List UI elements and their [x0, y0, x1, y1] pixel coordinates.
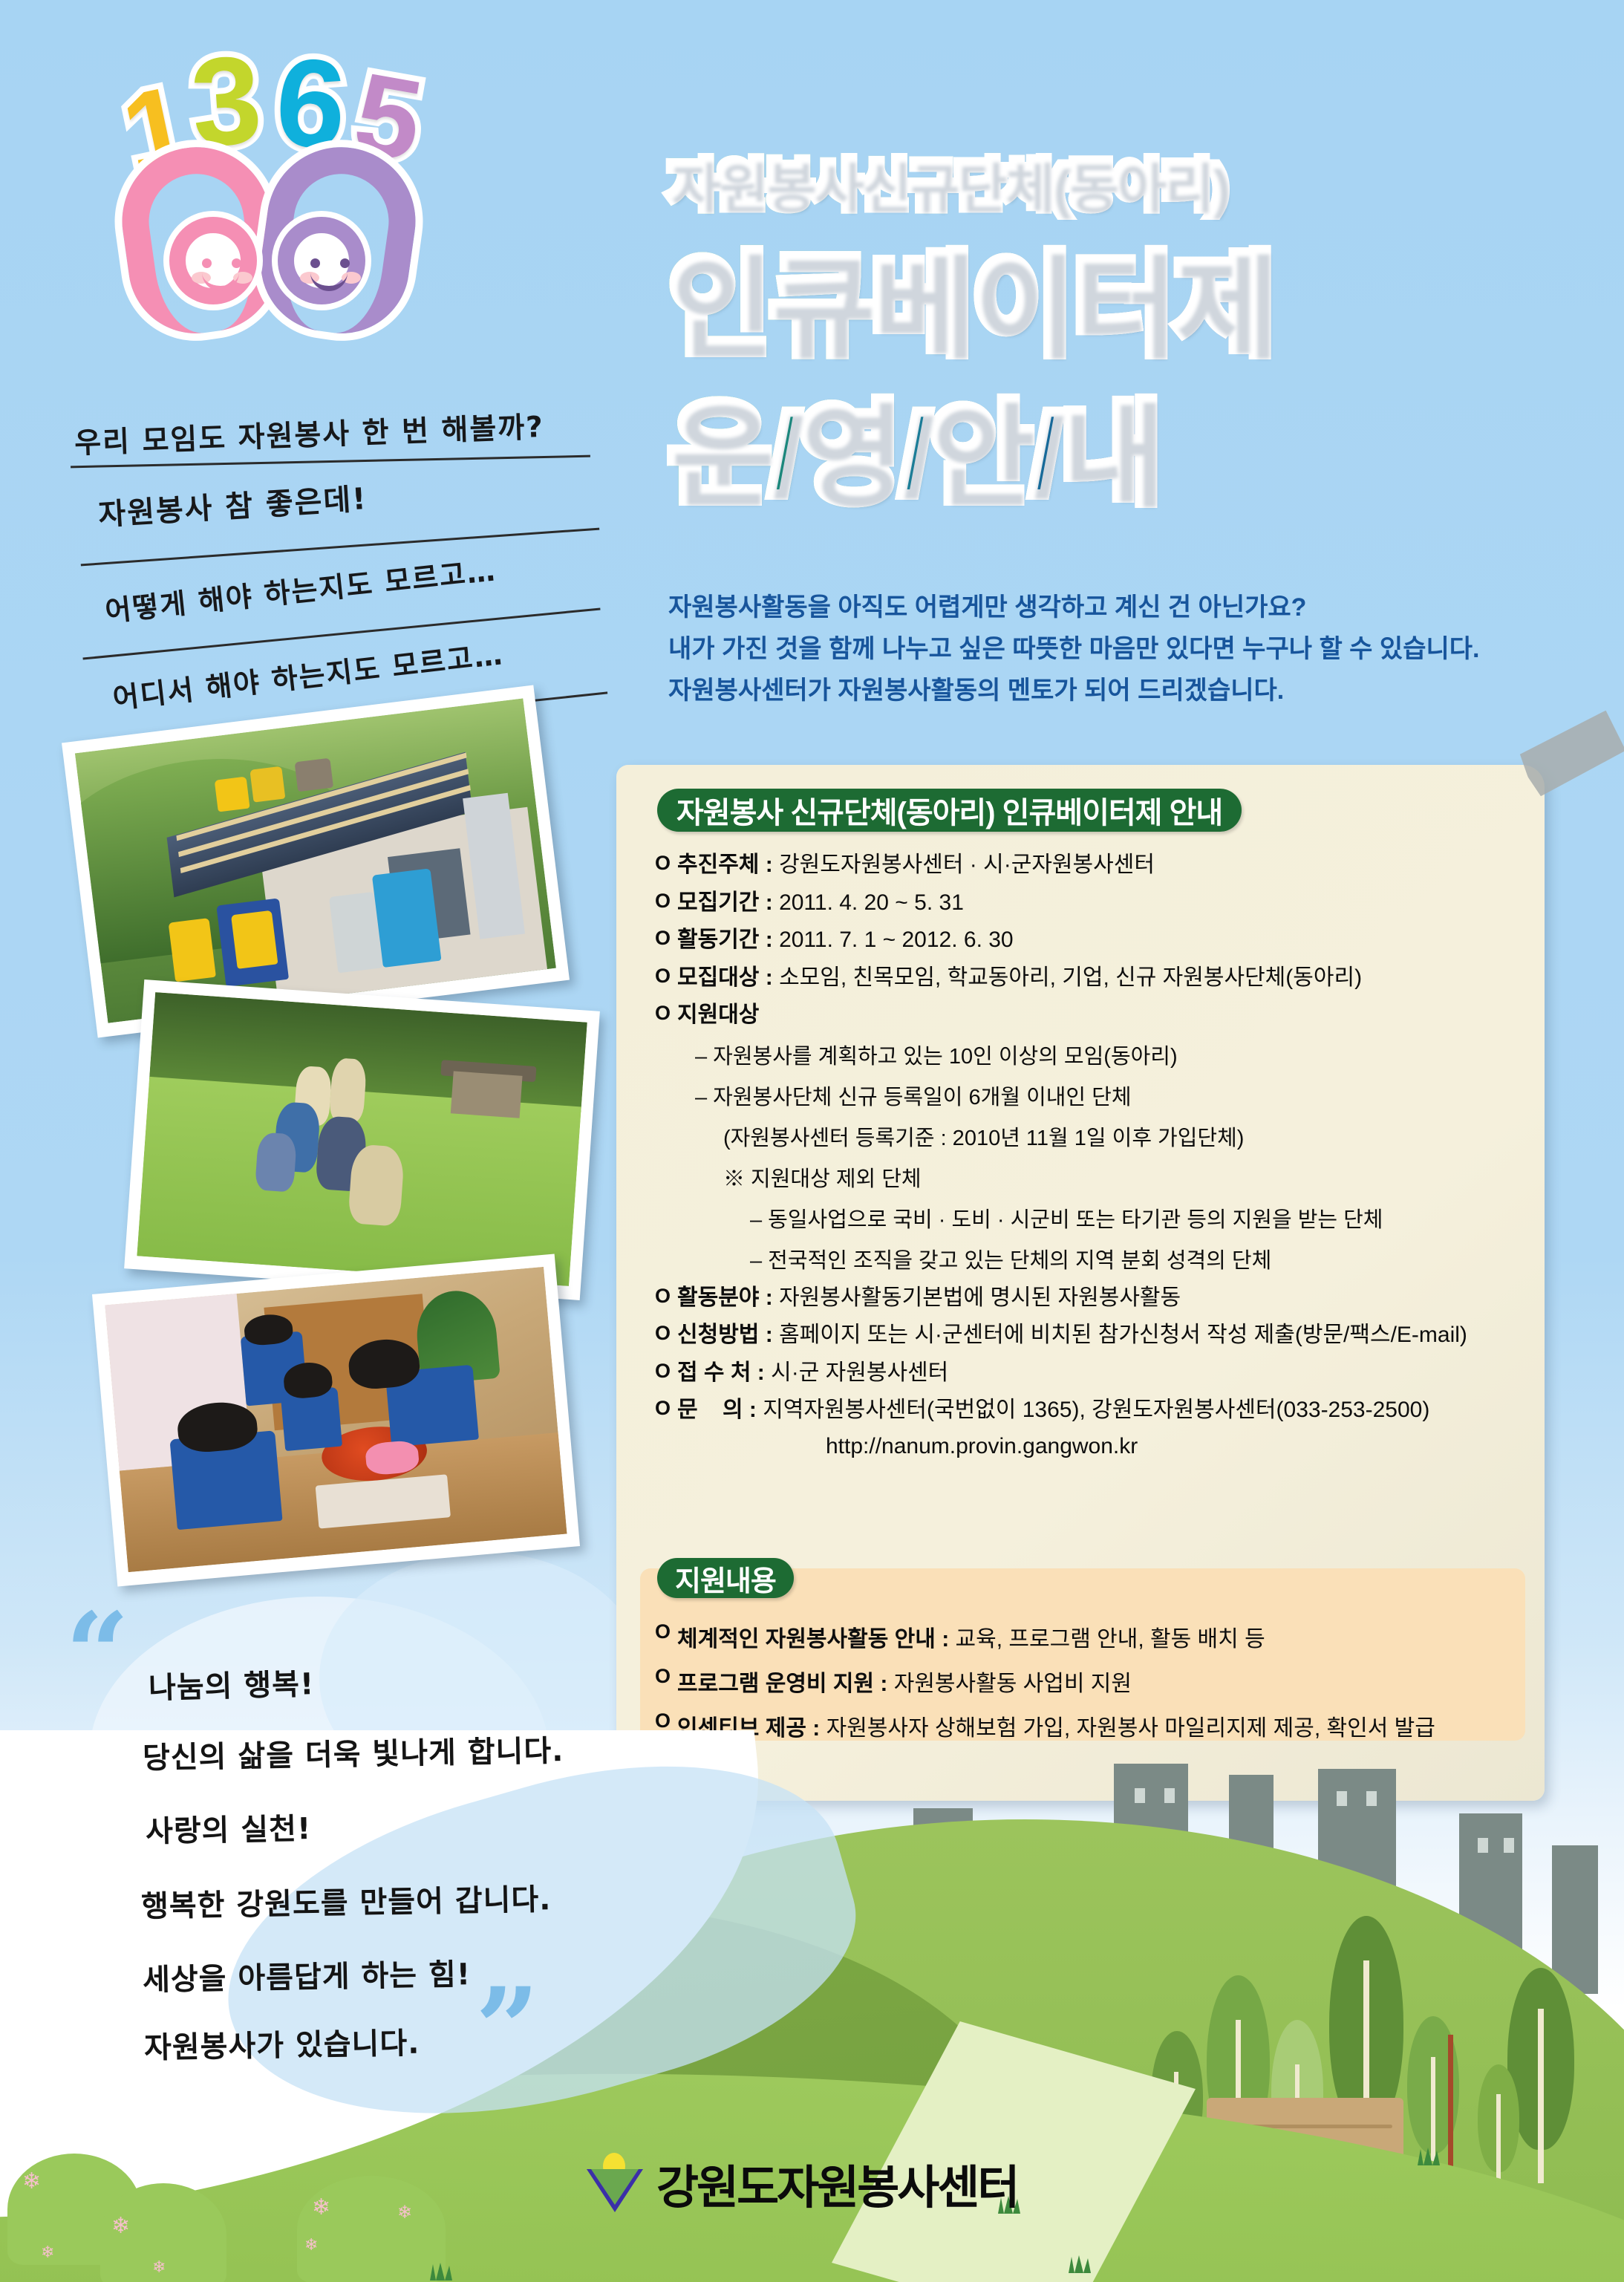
- footer-org-name: 강원도자원봉사센터: [656, 2150, 1017, 2217]
- support-row-guidance: O 체계적인 자원봉사활동 안내 : 교육, 프로그램 안내, 활동 배치 등: [655, 1620, 1524, 1653]
- info-card-badge: 자원봉사 신규단체(동아리) 인큐베이터제 안내: [657, 789, 1242, 832]
- bullet-icon: O: [655, 889, 677, 914]
- bullet-icon: O: [655, 964, 677, 989]
- bullet-icon: O: [655, 1665, 677, 1688]
- building-window-icon: [1504, 1838, 1514, 1853]
- info-sub-item: (자원봉사센터 등록기준 : 2010년 11월 1일 이후 가입단체): [723, 1121, 1524, 1152]
- info-sub-item: – 전국적인 조직을 갖고 있는 단체의 지역 분회 성격의 단체: [750, 1243, 1524, 1274]
- gangwon-mark-icon: [587, 2153, 643, 2214]
- info-row-value: 자원봉사활동기본법에 명시된 자원봉사활동: [779, 1284, 1181, 1312]
- info-row-label: 활동기간 :: [677, 926, 779, 954]
- building-window-icon: [1337, 1791, 1347, 1806]
- info-row-label: 문 의 :: [677, 1396, 763, 1424]
- subtitle-line-1: 자원봉사활동을 아직도 어렵게만 생각하고 계신 건 아닌가요?: [668, 587, 1479, 628]
- bush-icon: [297, 2176, 446, 2282]
- quote-line-6: 자원봉사가 있습니다.: [144, 2019, 420, 2067]
- flower-icon: ❄: [41, 2243, 54, 2262]
- info-row-label: 추진주체 :: [677, 851, 779, 879]
- quote-line-1: 나눔의 행복!: [148, 1660, 315, 1707]
- info-row-label: 활동분야 :: [677, 1284, 779, 1312]
- photo-roof-repair-image: [75, 698, 556, 1023]
- bullet-icon: O: [655, 1620, 677, 1643]
- info-sub-item: ※ 지원대상 제외 단체: [723, 1161, 1524, 1193]
- photo-roof-repair: [62, 685, 570, 1037]
- quote-line-2: 당신의 삶을 더욱 빛나게 합니다.: [143, 1727, 564, 1777]
- building-window-icon: [1478, 1838, 1488, 1853]
- info-row-label: 모집기간 :: [677, 889, 779, 917]
- bullet-icon: O: [655, 1284, 677, 1309]
- info-row-label: 접 수 처 :: [677, 1359, 771, 1387]
- subtitle-line-2: 내가 가진 것을 함께 나누고 싶은 따뜻한 마음만 있다면 누구나 할 수 있…: [668, 628, 1479, 670]
- subtitle-line-3: 자원봉사센터가 자원봉사활동의 멘토가 되어 드리겠습니다.: [668, 670, 1479, 711]
- building-window-icon: [1366, 1791, 1377, 1806]
- flower-icon: ❄: [304, 2235, 318, 2255]
- grass-icon: [427, 2261, 457, 2281]
- photo-kitchen-volunteer-image: [105, 1267, 567, 1572]
- bullet-icon: O: [655, 1709, 677, 1732]
- info-row-value: 강원도자원봉사센터 · 시·군자원봉사센터: [779, 851, 1155, 879]
- info-row-value: 시·군 자원봉사센터: [771, 1359, 948, 1387]
- support-badge: 지원내용: [657, 1558, 794, 1598]
- info-row-recruit-period: O 모집기간 : 2011. 4. 20 ~ 5. 31: [655, 889, 1524, 917]
- info-sub-item: – 자원봉사단체 신규 등록일이 6개월 이내인 단체: [695, 1080, 1524, 1111]
- support-row-program-funding: O 프로그램 운영비 지원 : 자원봉사활동 사업비 지원: [655, 1665, 1524, 1698]
- support-row-label: 체계적인 자원봉사활동 안내 :: [677, 1620, 956, 1653]
- quote-line-3: 사랑의 실천!: [146, 1805, 312, 1851]
- bullet-icon: O: [655, 1359, 677, 1384]
- mascot-pink-icon: [169, 217, 257, 304]
- building-window-icon: [1135, 1788, 1145, 1803]
- footer-logo: 강원도자원봉사센터: [587, 2150, 1017, 2217]
- flower-icon: ❄: [312, 2194, 330, 2220]
- title-line-1: 인큐베이터제: [668, 215, 1274, 376]
- grass-icon: [1066, 2254, 1095, 2273]
- support-row-value: 교육, 프로그램 안내, 활동 배치 등: [956, 1620, 1265, 1653]
- support-row-label: 프로그램 운영비 지원 :: [677, 1665, 894, 1698]
- title-line-2: 운/영/안/내: [668, 364, 1161, 525]
- photo-rice-field: [124, 979, 600, 1300]
- info-row-application-method: O 신청방법 : 홈페이지 또는 시·군센터에 비치된 참가신청서 작성 제출(…: [655, 1321, 1524, 1349]
- quote-close-icon: ”: [475, 1990, 539, 2068]
- flower-icon: ❄: [397, 2202, 412, 2223]
- quote-open-icon: “: [65, 1615, 129, 1693]
- info-row-value: 2011. 4. 20 ~ 5. 31: [779, 889, 964, 917]
- flower-icon: ❄: [152, 2257, 166, 2277]
- quote-line-5: 세상을 아름답게 하는 힘!: [143, 1950, 472, 1999]
- grass-icon: [1415, 2146, 1444, 2165]
- info-row-recruit-target: O 모집대상 : 소모임, 친목모임, 학교동아리, 기업, 신규 자원봉사단체…: [655, 964, 1524, 992]
- info-row-promoter: O 추진주체 : 강원도자원봉사센터 · 시·군자원봉사센터: [655, 851, 1524, 879]
- bullet-icon: O: [655, 1396, 677, 1421]
- subtitle-block: 자원봉사활동을 아직도 어렵게만 생각하고 계신 건 아닌가요? 내가 가진 것…: [668, 587, 1479, 711]
- info-row-activity-field: O 활동분야 : 자원봉사활동기본법에 명시된 자원봉사활동: [655, 1284, 1524, 1312]
- info-row-value: 지역자원봉사센터(국번없이 1365), 강원도자원봉사센터(033-253-2…: [763, 1396, 1429, 1424]
- logo-1365: 1 3 6 5: [111, 22, 431, 356]
- building-window-icon: [1164, 1788, 1175, 1803]
- photo-rice-field-image: [137, 992, 587, 1286]
- flower-icon: ❄: [111, 2213, 130, 2239]
- bullet-icon: O: [655, 1321, 677, 1346]
- info-row-value: 소모임, 친목모임, 학교동아리, 기업, 신규 자원봉사단체(동아리): [779, 964, 1362, 992]
- bullet-icon: O: [655, 851, 677, 876]
- logo-digit-3: 3: [187, 36, 265, 166]
- mascot-purple-icon: [278, 217, 365, 304]
- poster-root: 1 3 6 5 우리 모임도 자원봉사 한 번 해볼까? 자원봉사 참 좋은데!…: [0, 0, 1624, 2282]
- info-row-label: 모집대상 :: [677, 964, 779, 992]
- info-row-label: 지원대상: [677, 1001, 759, 1029]
- quote-line-4: 행복한 강원도를 만들어 갑니다.: [141, 1875, 552, 1926]
- info-sub-item: – 동일사업으로 국비 · 도비 · 시군비 또는 타기관 등의 지원을 받는 …: [750, 1202, 1524, 1233]
- support-row-value: 자원봉사활동 사업비 지원: [894, 1665, 1132, 1698]
- bullet-icon: O: [655, 926, 677, 951]
- info-list: O 추진주체 : 강원도자원봉사센터 · 시·군자원봉사센터 O 모집기간 : …: [655, 851, 1524, 1459]
- photo-kitchen-volunteer: [92, 1254, 580, 1587]
- info-row-reception: O 접 수 처 : 시·군 자원봉사센터: [655, 1359, 1524, 1387]
- info-row-label: 신청방법 :: [677, 1321, 779, 1349]
- info-row-activity-period: O 활동기간 : 2011. 7. 1 ~ 2012. 6. 30: [655, 926, 1524, 954]
- info-website-url[interactable]: http://nanum.provin.gangwon.kr: [826, 1434, 1524, 1459]
- info-row-support-target: O 지원대상: [655, 1001, 1524, 1029]
- flower-icon: ❄: [22, 2168, 41, 2194]
- bullet-icon: O: [655, 1001, 677, 1026]
- info-row-value: 2011. 7. 1 ~ 2012. 6. 30: [779, 926, 1014, 954]
- info-row-value: 홈페이지 또는 시·군센터에 비치된 참가신청서 작성 제출(방문/팩스/E-m…: [779, 1321, 1467, 1349]
- info-sub-item: – 자원봉사를 계획하고 있는 10인 이상의 모임(동아리): [695, 1039, 1524, 1070]
- info-row-inquiry: O 문 의 : 지역자원봉사센터(국번없이 1365), 강원도자원봉사센터(0…: [655, 1396, 1524, 1424]
- title-eyebrow: 자원봉사신규단체(동아리): [668, 141, 1226, 219]
